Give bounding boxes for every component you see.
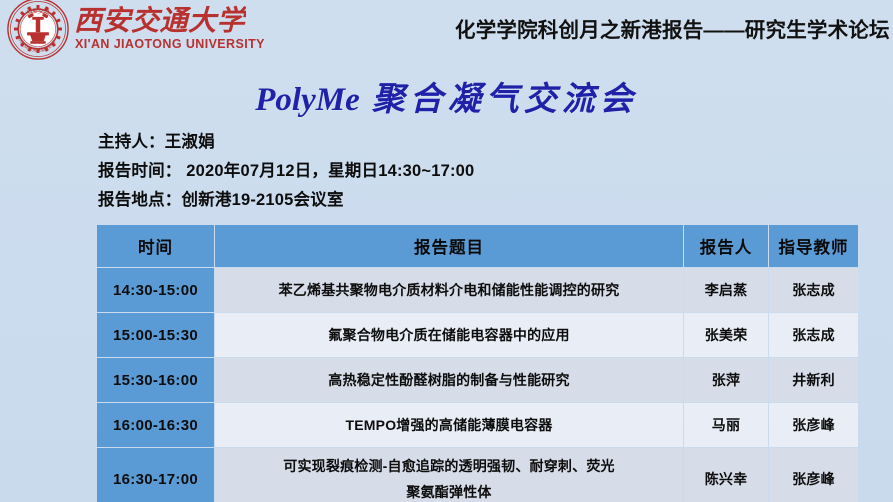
cell-time: 14:30-15:00	[97, 268, 214, 312]
table-row: 16:30-17:00 可实现裂痕检测-自愈追踪的透明强韧、耐穿刺、荧光 聚氨酯…	[97, 448, 858, 502]
table-header-row: 时间 报告题目 报告人 指导教师	[97, 225, 858, 267]
university-logo: 西安交通 XI'AN JIAOTONG UNIVERSITY 西安交通大学 XI…	[4, 0, 244, 61]
column-header-speaker: 报告人	[684, 225, 768, 267]
cell-topic: TEMPO增强的高储能薄膜电容器	[215, 403, 683, 447]
cell-topic: 氟聚合物电介质在储能电容器中的应用	[215, 313, 683, 357]
column-header-advisor: 指导教师	[769, 225, 858, 267]
banner-title: 化学学院科创月之新港报告——研究生学术论坛	[455, 13, 890, 43]
cell-time: 15:30-16:00	[97, 358, 214, 402]
page-title-latin: PolyMe	[255, 82, 359, 118]
slide-canvas: 西安交通 XI'AN JIAOTONG UNIVERSITY 西安交通大学 XI…	[0, 0, 893, 502]
cell-advisor: 张彦峰	[769, 403, 858, 447]
cell-speaker: 马丽	[684, 403, 768, 447]
info-host: 主持人：王淑娟	[98, 128, 698, 157]
column-header-topic: 报告题目	[215, 225, 683, 267]
info-time: 报告时间： 2020年07月12日，星期日14:30~17:00	[98, 157, 698, 186]
cell-time: 15:00-15:30	[97, 313, 214, 357]
cell-speaker: 张萍	[684, 358, 768, 402]
university-seal-icon: 西安交通 XI'AN JIAOTONG UNIVERSITY	[6, 0, 70, 61]
cell-speaker: 陈兴幸	[684, 448, 768, 502]
cell-topic-line1: 可实现裂痕检测-自愈追踪的透明强韧、耐穿刺、荧光	[283, 458, 614, 474]
cell-advisor: 张志成	[769, 268, 858, 312]
column-header-time: 时间	[97, 225, 214, 267]
cell-topic-line2: 聚氨酯弹性体	[216, 482, 682, 502]
cell-advisor: 张志成	[769, 313, 858, 357]
cell-topic: 苯乙烯基共聚物电介质材料介电和储能性能调控的研究	[215, 268, 683, 312]
university-name-cn: 西安交通大学	[74, 0, 246, 39]
cell-advisor: 张彦峰	[769, 448, 858, 502]
svg-text:西安交通大学: 西安交通大学	[74, 4, 246, 37]
schedule-table: 时间 报告题目 报告人 指导教师 14:30-15:00 苯乙烯基共聚物电介质材…	[96, 224, 859, 502]
header-band: 西安交通 XI'AN JIAOTONG UNIVERSITY 西安交通大学 XI…	[0, 0, 893, 62]
table-row: 14:30-15:00 苯乙烯基共聚物电介质材料介电和储能性能调控的研究 李启蒸…	[97, 268, 858, 312]
cell-speaker: 张美荣	[684, 313, 768, 357]
event-info: 主持人：王淑娟 报告时间： 2020年07月12日，星期日14:30~17:00…	[98, 128, 698, 215]
table-row: 15:30-16:00 高热稳定性酚醛树脂的制备与性能研究 张萍 井新利	[97, 358, 858, 402]
cell-time: 16:00-16:30	[97, 403, 214, 447]
cell-speaker: 李启蒸	[684, 268, 768, 312]
info-place: 报告地点：创新港19-2105会议室	[98, 186, 698, 215]
table-row: 16:00-16:30 TEMPO增强的高储能薄膜电容器 马丽 张彦峰	[97, 403, 858, 447]
page-title: PolyMe聚合凝气交流会	[0, 72, 893, 120]
cell-topic: 高热稳定性酚醛树脂的制备与性能研究	[215, 358, 683, 402]
cell-time: 16:30-17:00	[97, 448, 214, 502]
university-name-en: XI'AN JIAOTONG UNIVERSITY	[75, 37, 265, 51]
page-title-cjk: 聚合凝气交流会	[360, 79, 638, 118]
cell-advisor: 井新利	[769, 358, 858, 402]
cell-topic: 可实现裂痕检测-自愈追踪的透明强韧、耐穿刺、荧光 聚氨酯弹性体	[215, 448, 683, 502]
table-row: 15:00-15:30 氟聚合物电介质在储能电容器中的应用 张美荣 张志成	[97, 313, 858, 357]
